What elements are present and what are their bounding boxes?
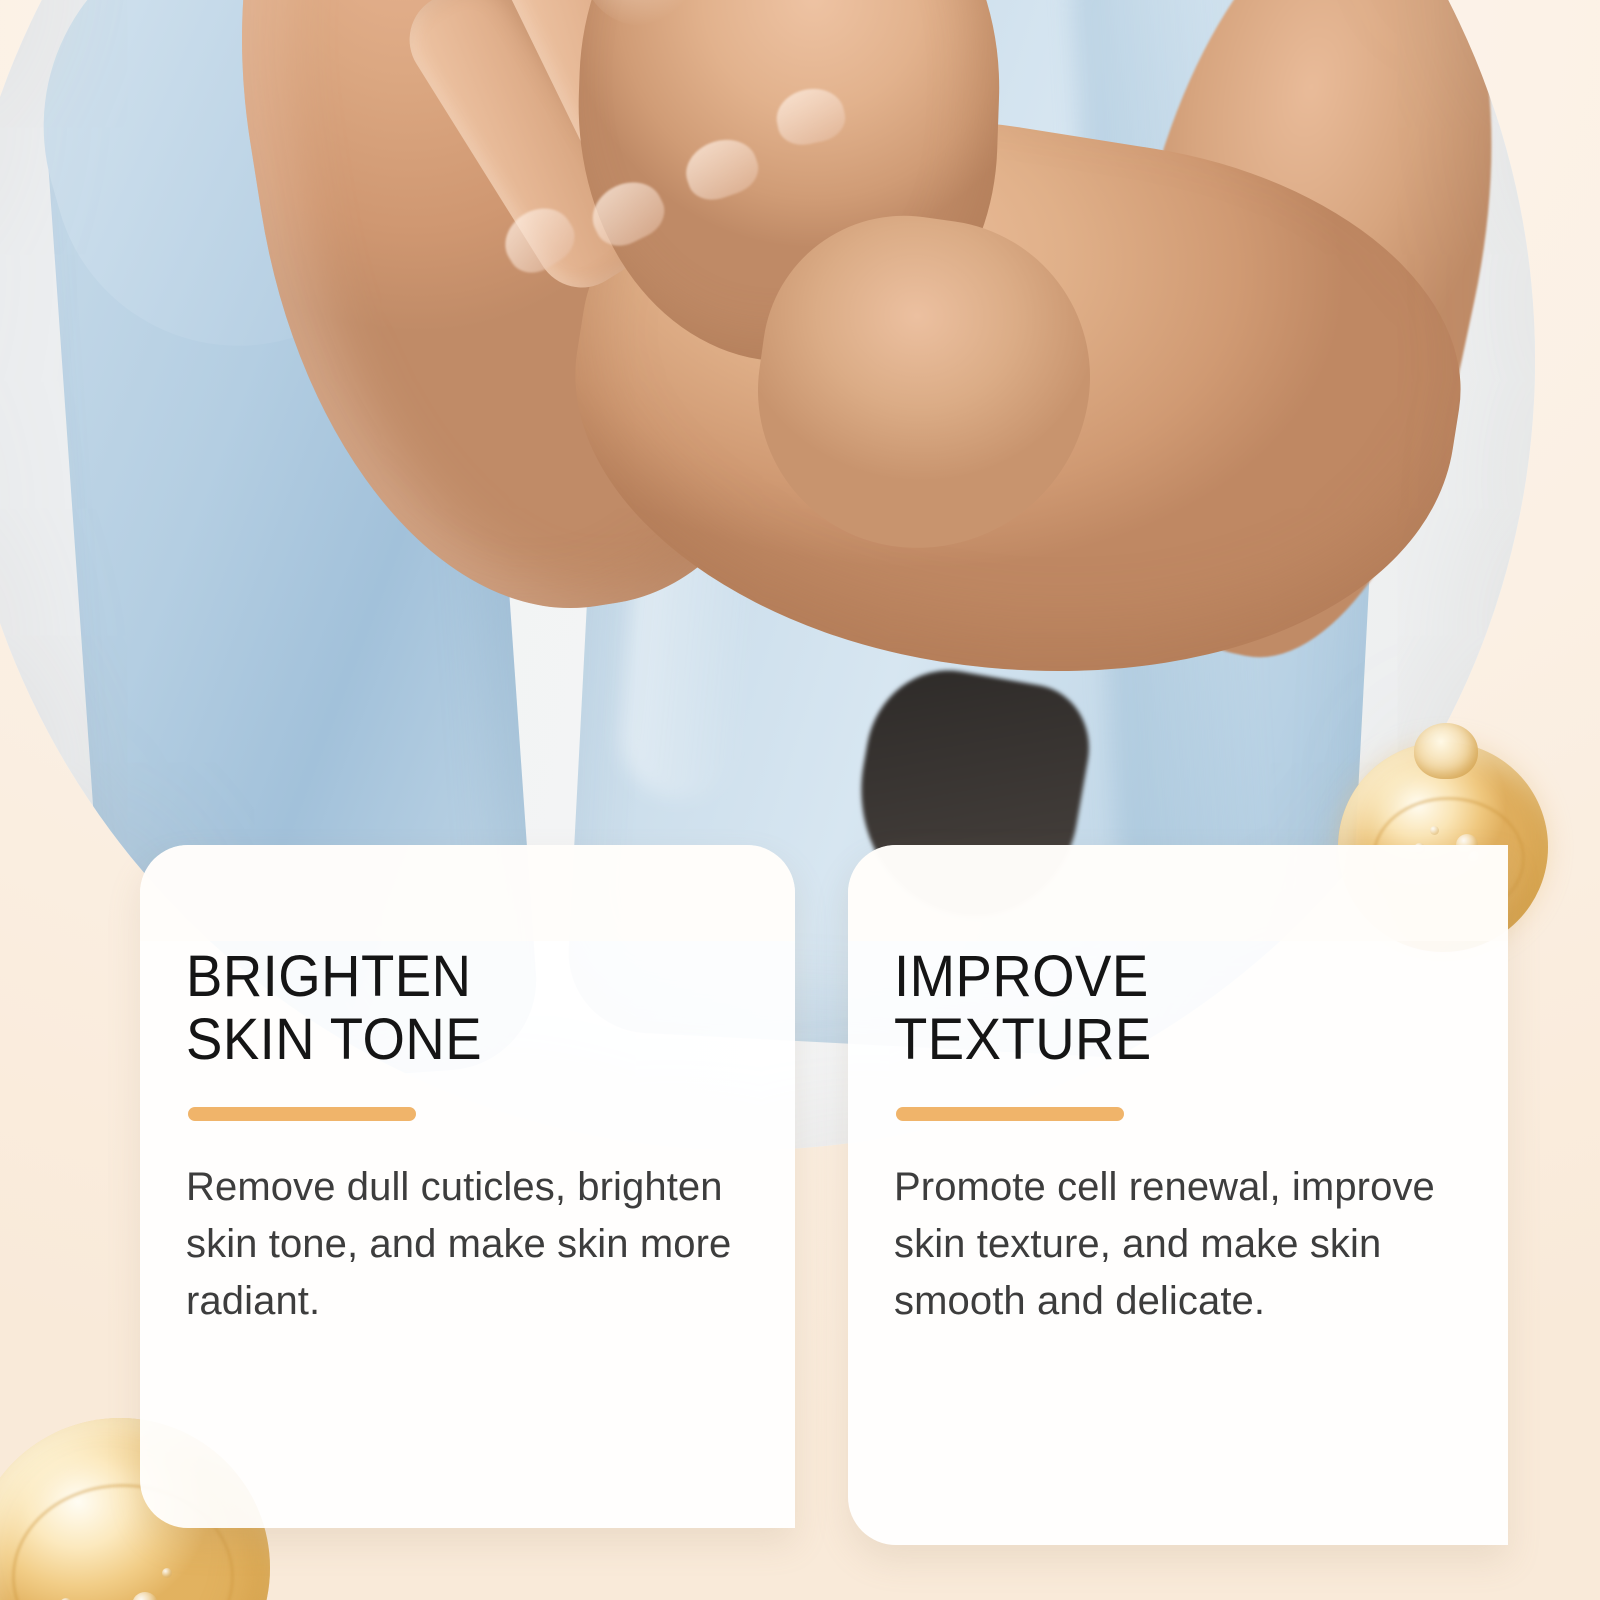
card-description: Remove dull cuticles, brighten skin tone… bbox=[186, 1159, 749, 1329]
benefit-card-brighten-skin-tone[interactable]: BRIGHTEN SKIN TONE Remove dull cuticles,… bbox=[140, 845, 795, 1528]
card-content: BRIGHTEN SKIN TONE Remove dull cuticles,… bbox=[140, 845, 795, 1528]
card-content: IMPROVE TEXTURE Promote cell renewal, im… bbox=[848, 845, 1508, 1545]
droplet-bubble bbox=[162, 1568, 172, 1578]
infographic-canvas: BRIGHTEN SKIN TONE Remove dull cuticles,… bbox=[0, 0, 1600, 1600]
benefit-card-improve-texture[interactable]: IMPROVE TEXTURE Promote cell renewal, im… bbox=[848, 845, 1508, 1545]
accent-bar bbox=[896, 1107, 1124, 1121]
card-title: IMPROVE TEXTURE bbox=[894, 945, 1428, 1071]
accent-bar bbox=[188, 1107, 416, 1121]
card-title: BRIGHTEN SKIN TONE bbox=[186, 945, 715, 1071]
card-description: Promote cell renewal, improve skin textu… bbox=[894, 1159, 1462, 1329]
hand bbox=[390, 0, 1020, 447]
